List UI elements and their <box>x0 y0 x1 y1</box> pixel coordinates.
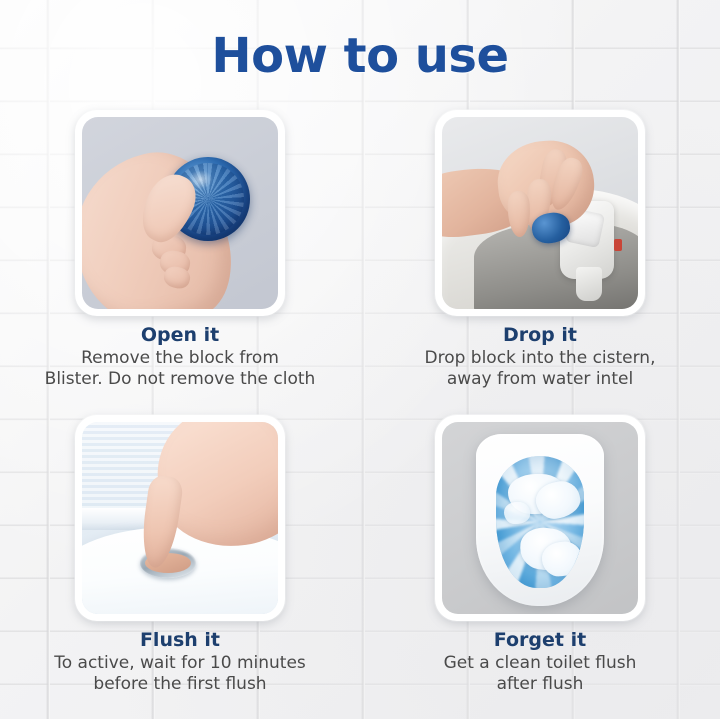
caption-drop-it: Drop it Drop block into the cistern, awa… <box>390 325 690 389</box>
step-body: To active, wait for 10 minutes before th… <box>30 653 330 694</box>
step-body: Drop block into the cistern, away from w… <box>390 348 690 389</box>
photo-hand-holding-blue-toilet-block <box>82 117 278 309</box>
valve-red-marker <box>614 239 622 251</box>
foam-blob <box>504 502 530 524</box>
toilet-seat <box>476 434 604 606</box>
page-title: How to use <box>0 28 720 84</box>
step-body: Remove the block from Blister. Do not re… <box>30 348 330 389</box>
caption-flush-it: Flush it To active, wait for 10 minutes … <box>30 630 330 694</box>
step-flush-it: Flush it To active, wait for 10 minutes … <box>0 415 360 719</box>
photo-hand-dropping-block-into-cistern <box>442 117 638 309</box>
steps-grid: Open it Remove the block from Blister. D… <box>0 110 720 719</box>
step-forget-it: Forget it Get a clean toilet flush after… <box>360 415 720 719</box>
photo-frame-flush-it <box>75 415 285 621</box>
photo-finger-pressing-flush-button <box>82 422 278 614</box>
step-heading: Open it <box>30 325 330 347</box>
infographic-page: How to use Open it Remove the block from… <box>0 0 720 719</box>
photo-frame-forget-it <box>435 415 645 621</box>
photo-frame-drop-it <box>435 110 645 316</box>
photo-frame-open-it <box>75 110 285 316</box>
caption-forget-it: Forget it Get a clean toilet flush after… <box>390 630 690 694</box>
caption-open-it: Open it Remove the block from Blister. D… <box>30 325 330 389</box>
step-heading: Drop it <box>390 325 690 347</box>
swirling-blue-water <box>496 456 584 588</box>
photo-toilet-bowl-with-blue-swirling-water <box>442 422 638 614</box>
step-body: Get a clean toilet flush after flush <box>390 653 690 694</box>
flush-valve-stem <box>576 267 602 301</box>
step-open-it: Open it Remove the block from Blister. D… <box>0 110 360 415</box>
step-heading: Forget it <box>390 630 690 652</box>
step-drop-it: Drop it Drop block into the cistern, awa… <box>360 110 720 415</box>
step-heading: Flush it <box>30 630 330 652</box>
